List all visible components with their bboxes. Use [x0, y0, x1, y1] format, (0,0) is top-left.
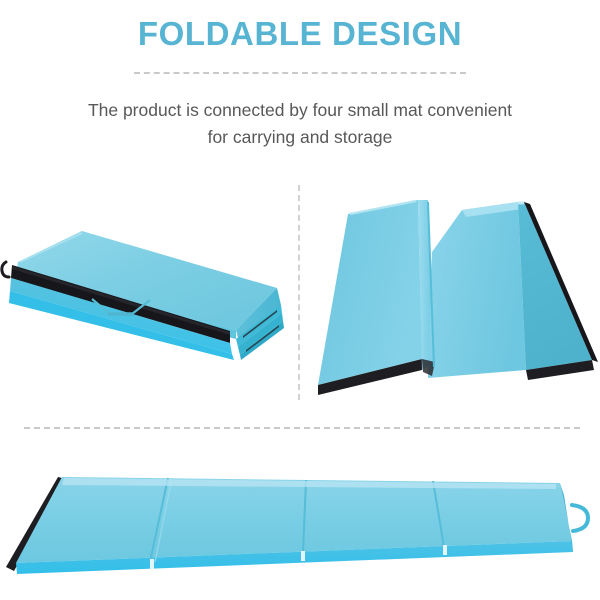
- divider-top: [134, 72, 466, 74]
- folded-stacked-mat-image: [0, 215, 290, 360]
- flat-unfolded-mat-image: [0, 455, 600, 585]
- divider-bottom: [24, 427, 580, 429]
- side-handle-loop-inner: [574, 510, 583, 526]
- accordion-folded-mat-image: [310, 192, 600, 402]
- page-subtitle: The product is connected by four small m…: [40, 97, 560, 151]
- flat-mat-seam-tick-3: [443, 545, 447, 555]
- flat-mat-seam-tick-1: [150, 559, 154, 569]
- side-handle-loop: [572, 505, 588, 531]
- accordion-panel-1: [318, 200, 422, 385]
- zipper-pull-icon: [2, 262, 9, 277]
- divider-vertical: [298, 185, 300, 400]
- flat-mat-seam-tick-2: [301, 551, 305, 561]
- infographic-canvas: FOLDABLE DESIGN The product is connected…: [0, 0, 600, 600]
- subtitle-line-2: for carrying and storage: [40, 124, 560, 151]
- page-title: FOLDABLE DESIGN: [0, 14, 600, 54]
- subtitle-line-1: The product is connected by four small m…: [40, 97, 560, 124]
- accordion-panel-3: [428, 202, 526, 378]
